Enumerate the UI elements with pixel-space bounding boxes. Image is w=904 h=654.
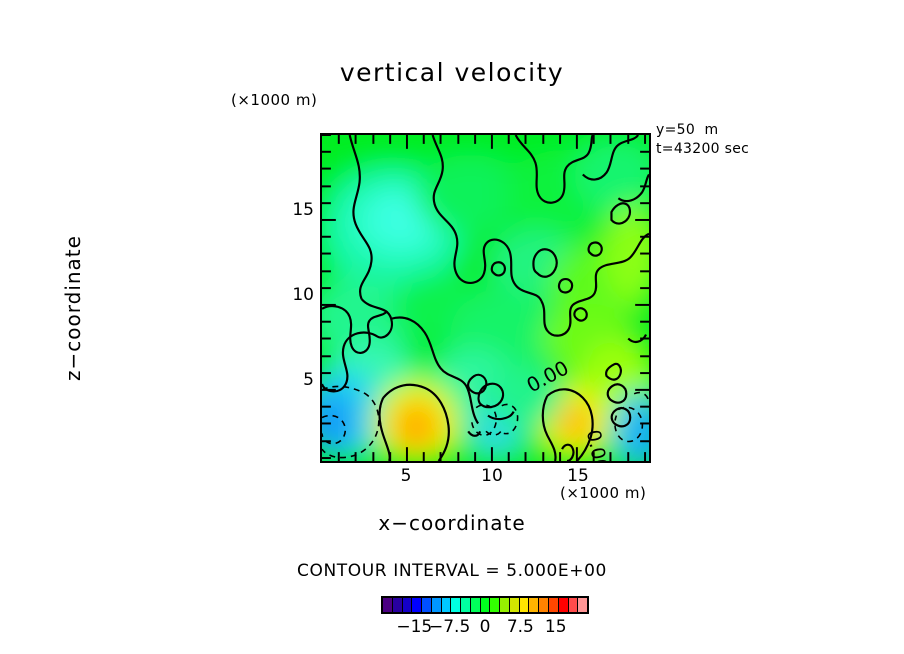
annotation-slice: y=50 m xyxy=(656,122,718,138)
y-tick-label-10: 10 xyxy=(286,285,314,305)
y-axis-unit-label: (×1000 m) xyxy=(231,91,317,109)
y-tick-label-5: 5 xyxy=(286,370,314,390)
colorbar-swatch-19 xyxy=(569,598,579,612)
colorbar-swatch-5 xyxy=(432,598,442,612)
colorbar-swatch-6 xyxy=(442,598,452,612)
colorbar-swatch-9 xyxy=(471,598,481,612)
colorbar-swatch-16 xyxy=(539,598,549,612)
colorbar-swatch-17 xyxy=(549,598,559,612)
colorbar-swatch-14 xyxy=(520,598,530,612)
colorbar-swatch-2 xyxy=(403,598,413,612)
colorbar-tick-labels: −15−7.507.515 xyxy=(381,617,589,639)
colorbar-tick-2: 0 xyxy=(480,617,491,637)
contour-plot-area[interactable]: 0.00 0.00 xyxy=(320,133,651,463)
colorbar-swatch-10 xyxy=(481,598,491,612)
x-tick-label-5: 5 xyxy=(386,466,426,486)
x-tick-label-15: 15 xyxy=(558,466,598,486)
colorbar-swatch-11 xyxy=(490,598,500,612)
x-tick-label-10: 10 xyxy=(472,466,512,486)
colorbar-swatch-12 xyxy=(500,598,510,612)
colorbar-swatch-4 xyxy=(422,598,432,612)
colorbar-swatch-1 xyxy=(393,598,403,612)
colorbar-swatch-13 xyxy=(510,598,520,612)
colorbar-swatch-18 xyxy=(559,598,569,612)
colorbar-tick-0: −15 xyxy=(396,617,432,637)
colorbar-swatch-7 xyxy=(451,598,461,612)
colorbar-tick-1: −7.5 xyxy=(429,617,470,637)
colorbar[interactable] xyxy=(381,596,589,614)
page-title: vertical velocity xyxy=(0,58,904,87)
contour-interval-label: CONTOUR INTERVAL = 5.000E+00 xyxy=(0,561,904,581)
colorbar-swatch-20 xyxy=(578,598,587,612)
colorbar-swatch-8 xyxy=(461,598,471,612)
colorbar-swatch-15 xyxy=(529,598,539,612)
y-axis-title: z−coordinate xyxy=(61,193,85,423)
field-shading xyxy=(322,135,649,461)
colorbar-swatch-0 xyxy=(383,598,393,612)
colorbar-swatch-3 xyxy=(412,598,422,612)
x-axis-unit-label: (×1000 m) xyxy=(560,484,646,502)
colorbar-tick-3: 7.5 xyxy=(507,617,534,637)
x-axis-title: x−coordinate xyxy=(0,511,904,535)
plot-annotation: y=50 mt=43200 sec xyxy=(656,121,749,159)
colorbar-tick-4: 15 xyxy=(545,617,567,637)
annotation-time: t=43200 sec xyxy=(656,141,749,157)
y-tick-label-15: 15 xyxy=(286,200,314,220)
